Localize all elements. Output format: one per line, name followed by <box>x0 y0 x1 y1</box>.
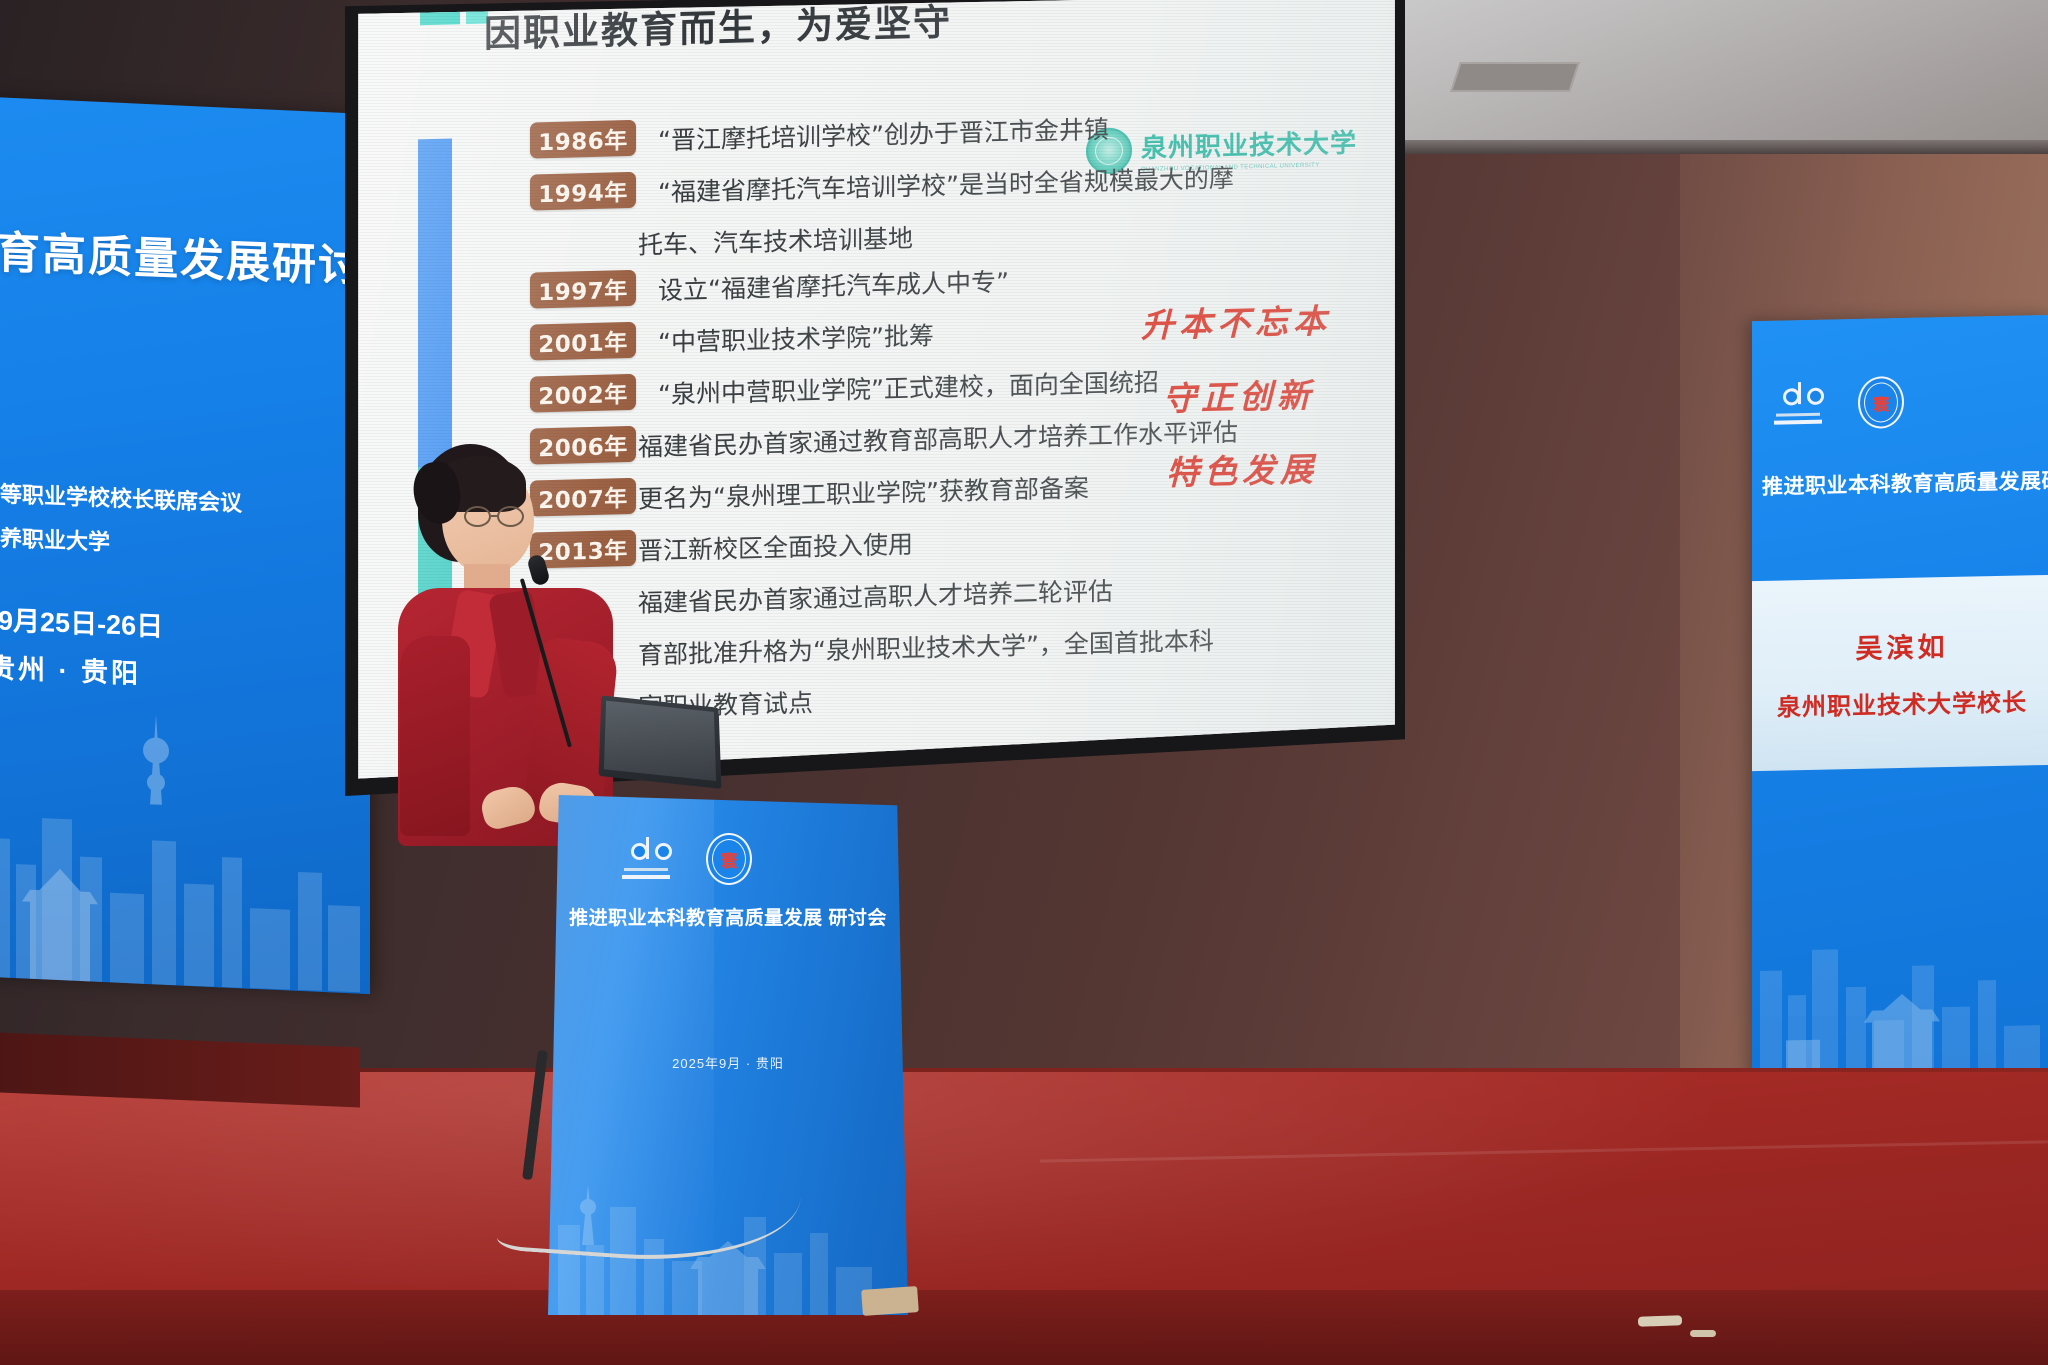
left-banner: 教育高质量发展研讨会 国高等职业学校校长联席会议 阳康养职业大学 5年9月25日… <box>0 96 370 994</box>
skyline-graphic <box>0 647 370 992</box>
year-badge: 2001年 <box>530 322 636 361</box>
red-seal-icon: 寰 <box>1858 376 1904 429</box>
seal-character: 寰 <box>721 847 738 872</box>
slogan-line-2: 守正创新 <box>1147 368 1331 421</box>
ceiling-vent <box>1450 62 1580 92</box>
right-banner-logos: 寰 <box>1774 376 1904 431</box>
timeline-text: 设立“福建省摩托汽车成人中专” <box>658 262 1009 307</box>
left-banner-sub2: 阳康养职业大学 <box>0 519 110 557</box>
timeline-text: 更名为“泉州理工职业学院”获教育部备案 <box>638 468 1089 515</box>
timeline-text: “晋江摩托培训学校”创办于晋江市金井镇 <box>658 110 1109 157</box>
left-banner-place: 贵州 · 贵阳 <box>0 646 141 691</box>
speaker-name: 吴滨如 <box>1856 625 1949 666</box>
podium-title: 推进职业本科教育高质量发展 研讨会 <box>548 905 908 933</box>
glasses-icon <box>464 506 532 528</box>
podium-date: 2025年9月 · 贵阳 <box>548 1053 908 1072</box>
arm-left <box>400 636 470 836</box>
timeline-text: 晋江新校区全面投入使用 <box>638 525 913 568</box>
left-banner-title: 教育高质量发展研讨会 <box>0 215 370 297</box>
floor-debris-1 <box>1638 1315 1682 1327</box>
slogan-line-3: 特色发展 <box>1153 442 1331 495</box>
speaker-person <box>404 440 654 840</box>
jdap-logo-icon <box>1774 381 1836 426</box>
year-badge: 1986年 <box>530 120 636 159</box>
left-banner-date: 5年9月25日-26日 <box>0 597 163 644</box>
right-banner-title: 推进职业本科教育高质量发展研讨 <box>1762 465 2048 501</box>
red-seal-icon: 寰 <box>706 833 752 885</box>
floor-debris-2 <box>1690 1330 1716 1337</box>
right-banner: 寰 推进职业本科教育高质量发展研讨 吴滨如 泉州职业技术大学校长 <box>1752 315 2048 1091</box>
slide-deco-blue-bar <box>418 138 452 469</box>
slogan-calligraphy: 升本不忘本 守正创新 特色发展 <box>1141 294 1331 495</box>
year-badge: 1994年 <box>530 172 636 211</box>
floor-tape <box>861 1286 919 1316</box>
timeline-text: 托车、汽车技术培训基地 <box>638 219 913 262</box>
seal-character: 寰 <box>1873 390 1890 415</box>
conference-hall-photo: 教育高质量发展研讨会 国高等职业学校校长联席会议 阳康养职业大学 5年9月25日… <box>0 0 2048 1365</box>
timeline-text: “中营职业技术学院”批筹 <box>658 316 934 359</box>
timeline-text: 福建省民办首家通过高职人才培养二轮评估 <box>638 572 1113 620</box>
year-badge: 2002年 <box>530 374 636 413</box>
year-badge: 1997年 <box>530 270 636 309</box>
jdap-logo-icon <box>622 837 684 881</box>
floor-front-band <box>0 1290 2048 1365</box>
laptop-screen <box>599 695 722 788</box>
skyline-graphic <box>1752 785 2048 1091</box>
speaker-nameplate: 吴滨如 泉州职业技术大学校长 <box>1752 575 2048 771</box>
left-banner-sub1: 国高等职业学校校长联席会议 <box>0 475 242 518</box>
slogan-line-1: 升本不忘本 <box>1141 294 1331 347</box>
speaker-role: 泉州职业技术大学校长 <box>1777 682 2027 722</box>
podium-logos: 寰 <box>622 833 752 885</box>
